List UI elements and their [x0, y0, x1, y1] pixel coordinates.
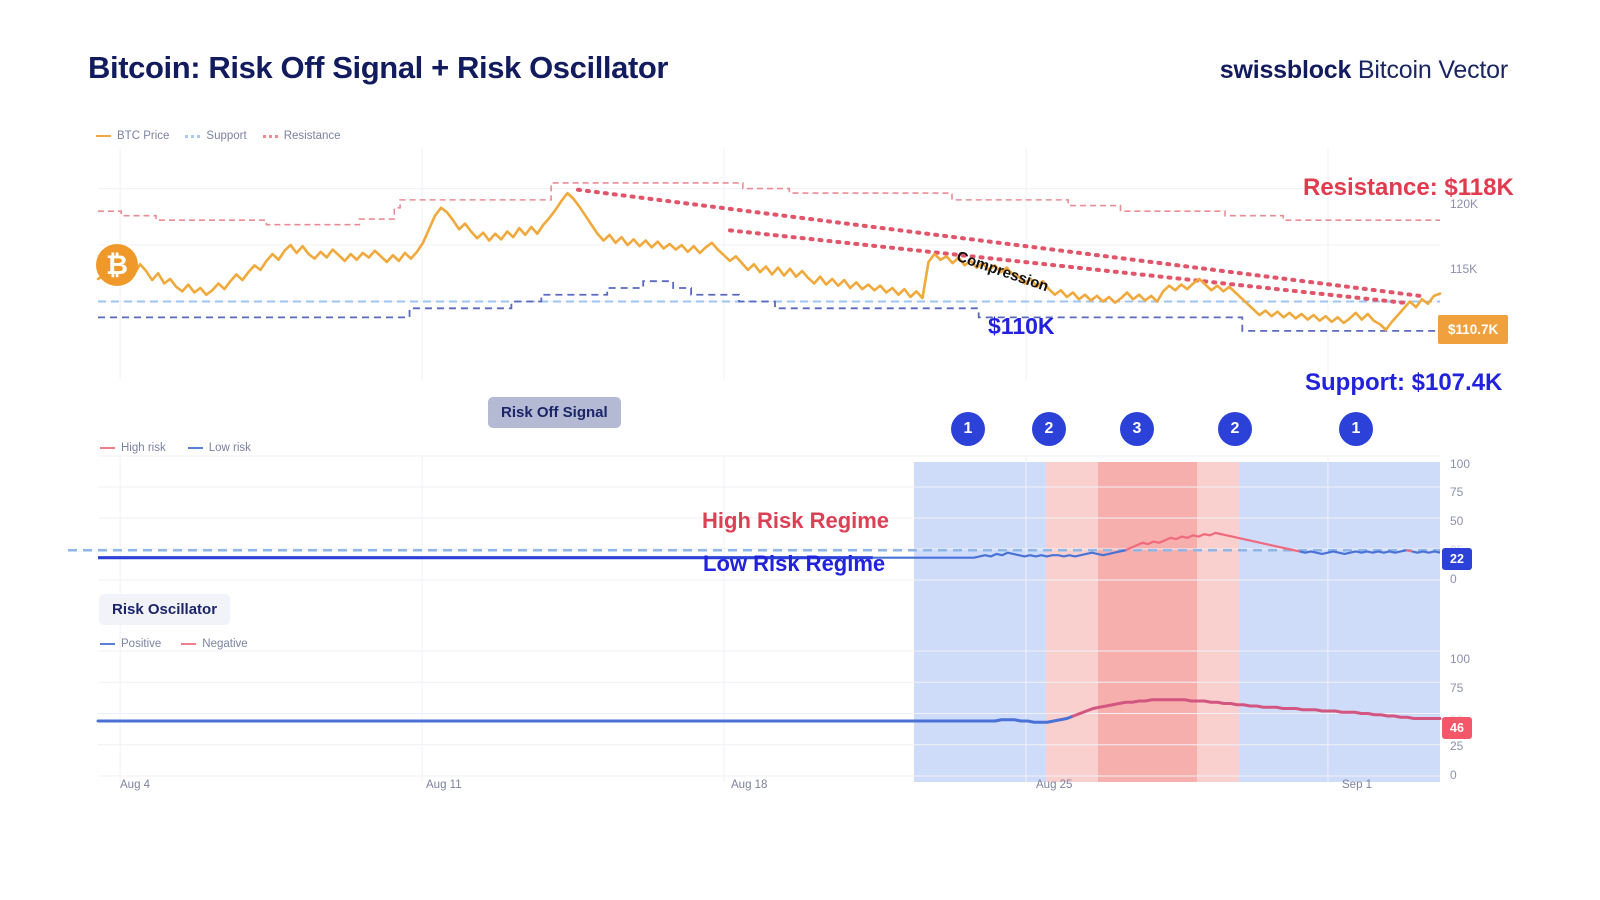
page-title: Bitcoin: Risk Off Signal + Risk Oscillat…	[88, 50, 668, 86]
positive-line-icon	[100, 643, 115, 645]
regime-badge-3[interactable]: 3	[1120, 412, 1154, 446]
risk-off-signal-label: Risk Off Signal	[488, 397, 621, 428]
risk-ytick-100: 100	[1450, 457, 1470, 471]
osc-ytick-0: 0	[1450, 768, 1457, 782]
legend-label: High risk	[121, 442, 166, 454]
resistance-line-icon	[263, 135, 278, 138]
osc-ytick-25: 25	[1450, 739, 1463, 753]
regime-band-5	[1239, 462, 1440, 782]
lower-chart-svg	[98, 456, 1440, 782]
risk-ytick-50: 50	[1450, 514, 1463, 528]
risk-and-oscillator-chart[interactable]	[98, 456, 1440, 782]
risk-oscillator-label: Risk Oscillator	[99, 594, 230, 625]
xtick-sep-1: Sep 1	[1342, 779, 1372, 791]
regime-band-2	[1046, 462, 1098, 782]
high-risk-regime-annotation: High Risk Regime	[702, 508, 889, 534]
risk-ytick-75: 75	[1450, 485, 1463, 499]
oscillator-legend: Positive Negative	[100, 638, 248, 650]
risk-legend: High risk Low risk	[100, 442, 251, 454]
xtick-aug-18: Aug 18	[731, 779, 767, 791]
legend-label: Negative	[202, 638, 247, 650]
support-annotation: Support: $107.4K	[1305, 369, 1502, 397]
xtick-aug-4: Aug 4	[120, 779, 150, 791]
legend-item-low-risk[interactable]: Low risk	[188, 442, 251, 454]
high-risk-line-icon	[100, 447, 115, 449]
brand-logo: swissblock Bitcoin Vector	[1220, 56, 1508, 85]
regime-band-3	[1098, 462, 1197, 782]
btc-price-line-icon	[96, 135, 111, 137]
xtick-aug-11: Aug 11	[426, 779, 462, 791]
resistance-annotation: Resistance: $118K	[1303, 174, 1514, 202]
oscillator-current-value-tag: 46	[1442, 717, 1472, 739]
legend-label: Support	[206, 130, 246, 142]
price-ytick-115k: 115K	[1450, 262, 1477, 276]
legend-item-resistance[interactable]: Resistance	[263, 130, 341, 142]
brand-name: swissblock	[1220, 56, 1351, 84]
price-legend: BTC Price Support Resistance	[96, 130, 341, 142]
legend-label: Resistance	[284, 130, 341, 142]
legend-item-btc-price[interactable]: BTC Price	[96, 130, 169, 142]
regime-band-4	[1197, 462, 1239, 782]
brand-product: Bitcoin Vector	[1351, 56, 1508, 84]
regime-badge-1[interactable]: 1	[951, 412, 985, 446]
regime-badge-4[interactable]: 2	[1218, 412, 1252, 446]
support-line-icon	[185, 135, 200, 138]
bitcoin-symbol: ₿	[106, 252, 128, 279]
mid-level-annotation: $110K	[988, 313, 1055, 340]
legend-item-high-risk[interactable]: High risk	[100, 442, 166, 454]
xtick-aug-25: Aug 25	[1036, 779, 1072, 791]
current-price-tag: $110.7K	[1438, 315, 1508, 344]
low-risk-line-icon	[188, 447, 203, 449]
legend-item-negative[interactable]: Negative	[181, 638, 247, 650]
legend-label: Low risk	[209, 442, 251, 454]
legend-item-support[interactable]: Support	[185, 130, 246, 142]
regime-badge-5[interactable]: 1	[1339, 412, 1373, 446]
price-chart[interactable]	[98, 148, 1440, 380]
regime-badge-2[interactable]: 2	[1032, 412, 1066, 446]
legend-label: BTC Price	[117, 130, 169, 142]
price-chart-svg	[98, 148, 1440, 380]
legend-item-positive[interactable]: Positive	[100, 638, 161, 650]
risk-current-value-tag: 22	[1442, 548, 1472, 570]
osc-ytick-100: 100	[1450, 652, 1470, 666]
legend-label: Positive	[121, 638, 161, 650]
osc-ytick-75: 75	[1450, 681, 1463, 695]
bitcoin-icon: ₿	[96, 244, 138, 286]
risk-ytick-0: 0	[1450, 572, 1457, 586]
negative-line-icon	[181, 643, 196, 645]
low-risk-regime-annotation: Low Risk Regime	[703, 551, 885, 577]
